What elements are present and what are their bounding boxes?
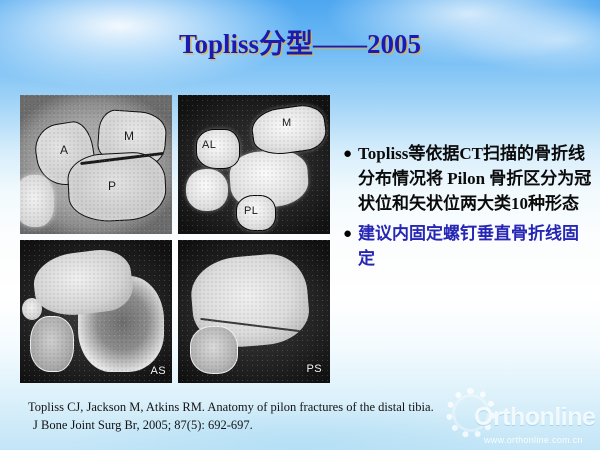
ct-image-grid: A M P AL M PL AS	[20, 95, 330, 383]
bullet-list: ● Topliss等依据CT扫描的骨折线分布情况将 Pilon 骨折区分为冠状位…	[343, 141, 595, 276]
bullet-text-primary: Topliss等依据CT扫描的骨折线分布情况将 Pilon 骨折区分为冠状位和矢…	[358, 141, 595, 216]
bullet-item: ● Topliss等依据CT扫描的骨折线分布情况将 Pilon 骨折区分为冠状位…	[343, 141, 595, 216]
ct-label-ps: PS	[307, 363, 322, 375]
fragment-medial	[249, 102, 329, 158]
citation-line-1: Topliss CJ, Jackson M, Atkins RM. Anatom…	[28, 398, 498, 416]
posterior-fragment	[190, 326, 238, 374]
ct-panel-sagittal-anterior: AS	[20, 240, 172, 383]
calcaneus-structure	[30, 316, 74, 372]
watermark-url: www.orthonline.com.cn	[484, 435, 583, 445]
fibula-structure	[20, 175, 54, 227]
ct-label-p: P	[108, 179, 116, 193]
citation-line-2: J Bone Joint Surg Br, 2005; 87(5): 692-6…	[28, 416, 498, 434]
ct-label-m: M	[282, 117, 292, 129]
presentation-slide: Topliss分型——2005 A M P AL M PL	[0, 0, 600, 450]
ct-panel-axial-outlined: A M P	[20, 95, 172, 234]
slide-title: Topliss分型——2005	[0, 22, 600, 61]
ct-label-pl: PL	[244, 205, 258, 217]
ct-label-as: AS	[151, 365, 166, 377]
bullet-text-highlight: 建议内固定螺钉垂直骨折线固定	[358, 221, 595, 271]
ct-panel-axial-dark: AL M PL	[178, 95, 330, 234]
small-bone-structure	[22, 298, 42, 320]
bullet-marker-icon: ●	[343, 221, 358, 247]
bullet-marker-icon: ●	[343, 141, 358, 167]
ct-label-m: M	[124, 129, 134, 143]
citation-block: Topliss CJ, Jackson M, Atkins RM. Anatom…	[28, 398, 498, 434]
ct-panel-sagittal-posterior: PS	[178, 240, 330, 383]
ct-label-al: AL	[202, 139, 216, 151]
ct-label-a: A	[60, 143, 68, 157]
bullet-item: ● 建议内固定螺钉垂直骨折线固定	[343, 221, 595, 271]
fibula-structure	[186, 169, 228, 211]
